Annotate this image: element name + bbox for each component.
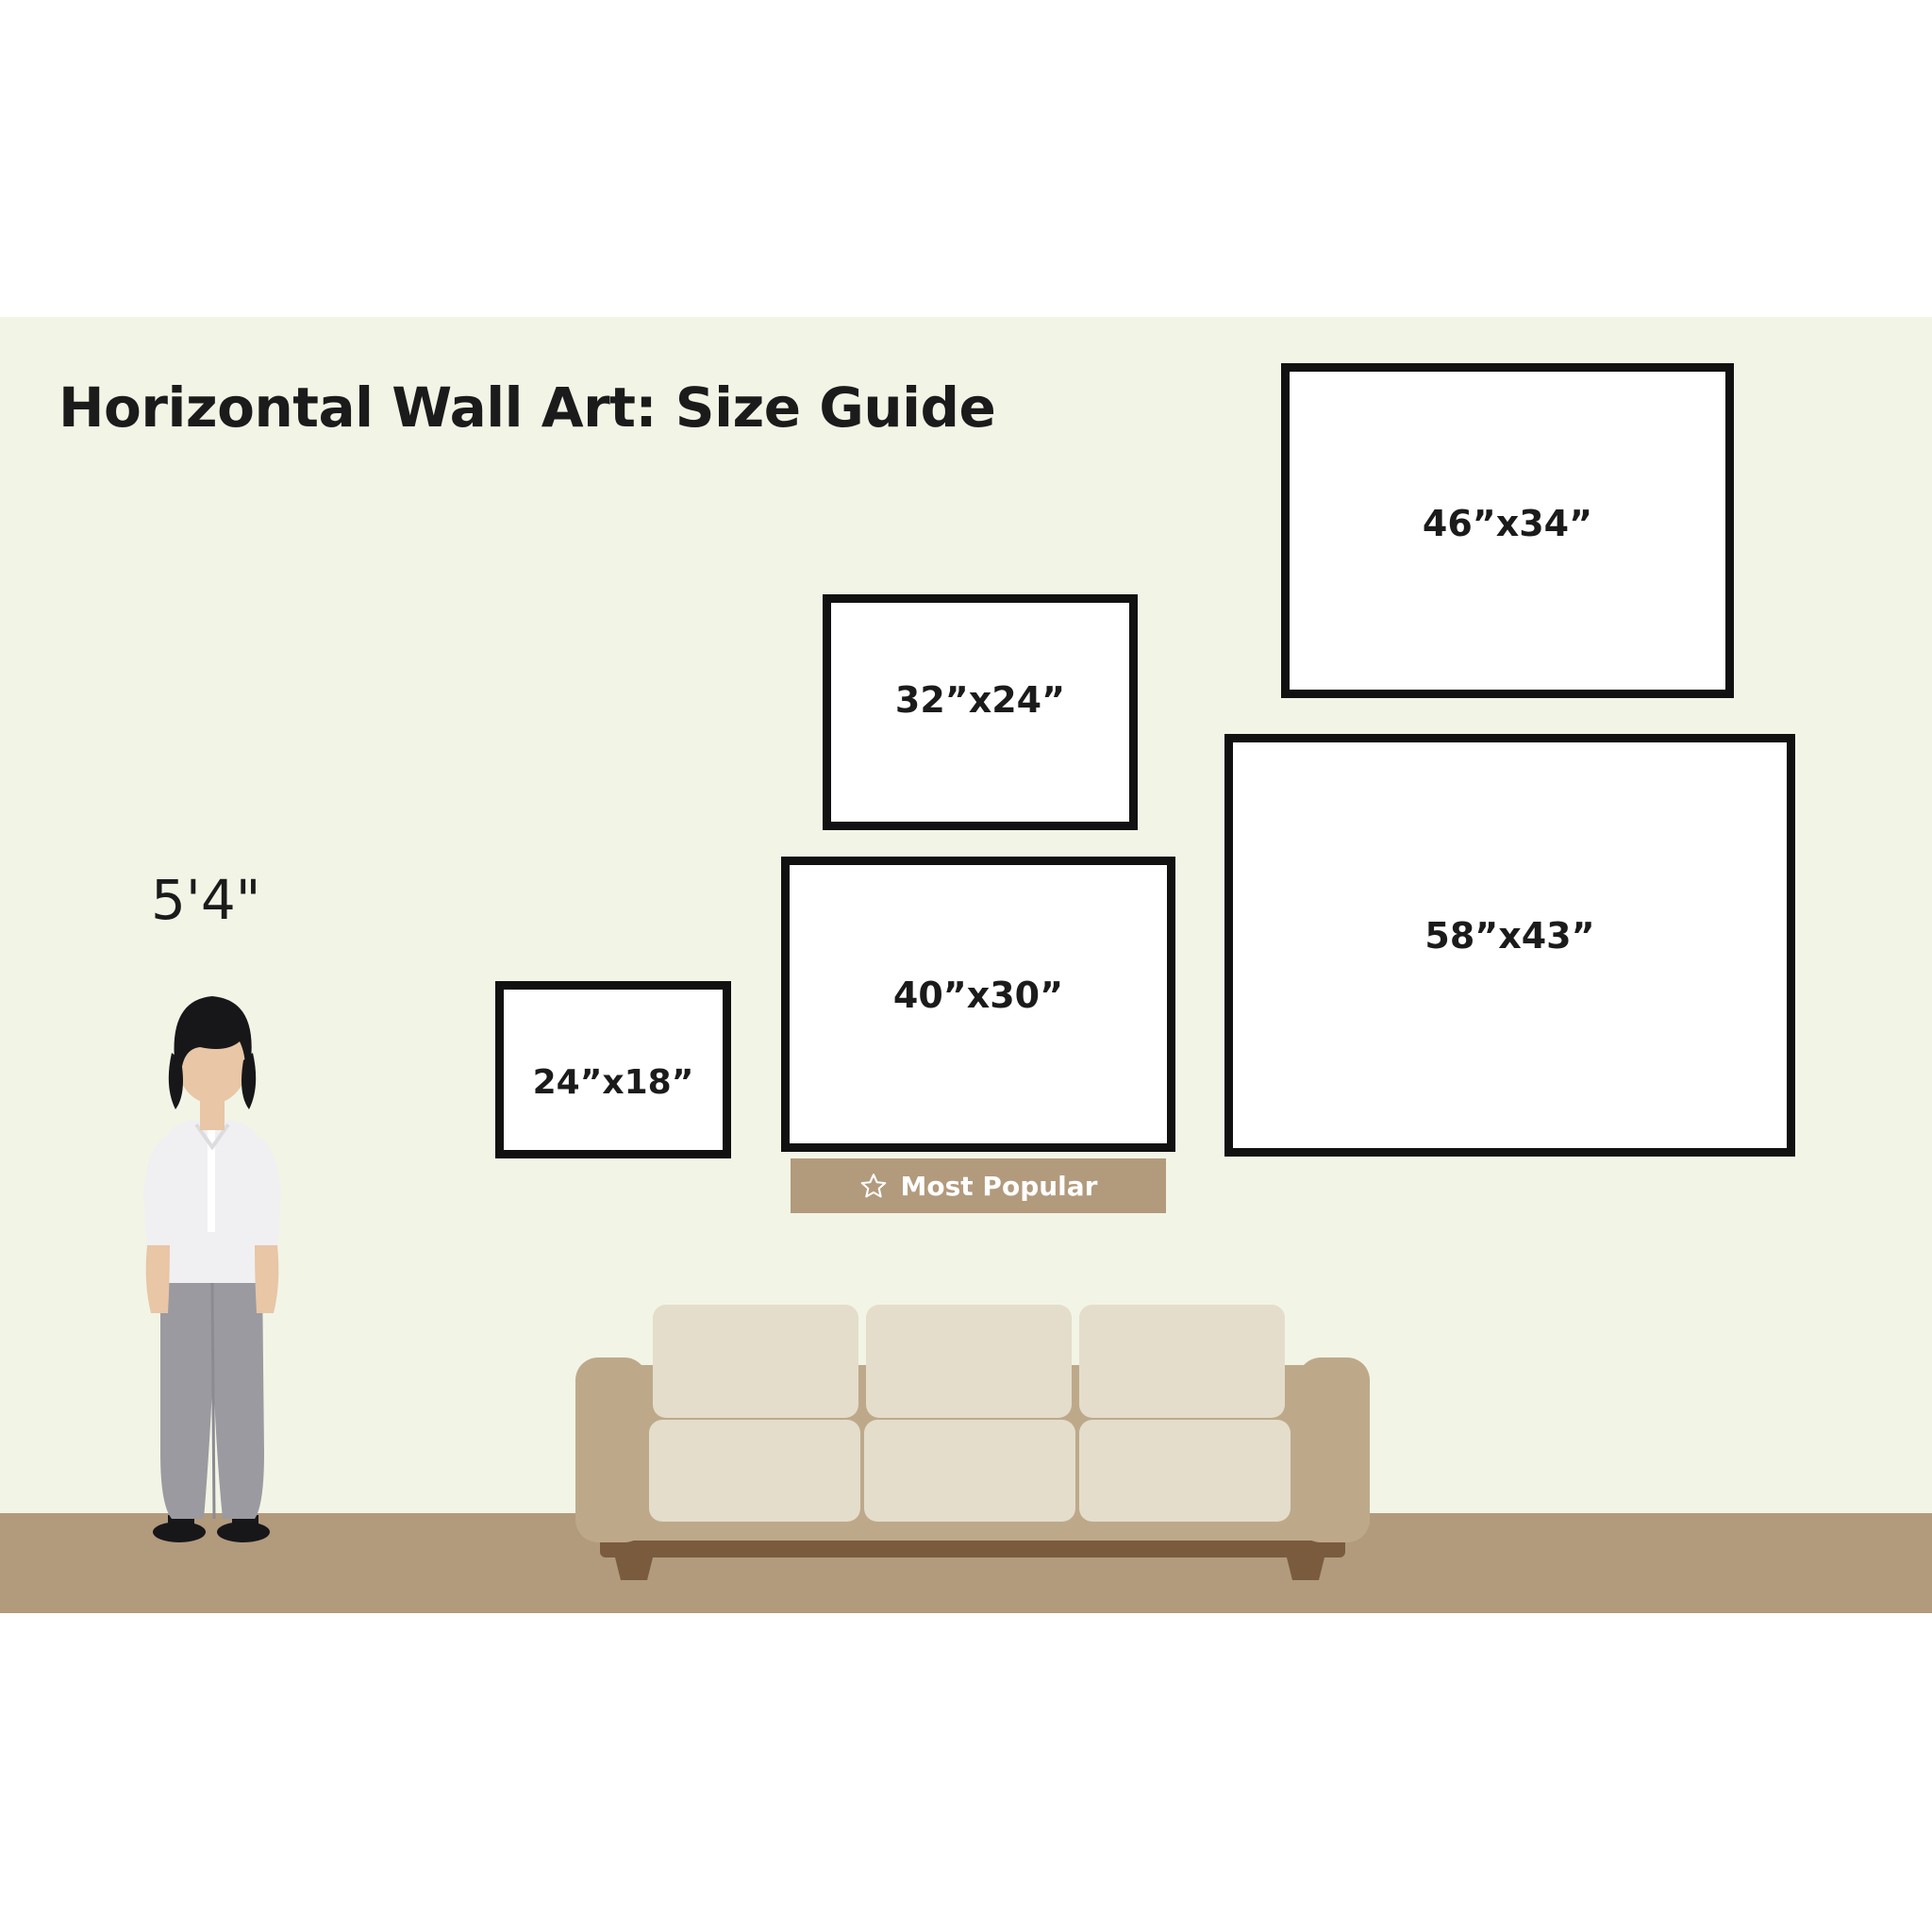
sofa-back-cushion-2 <box>866 1305 1072 1418</box>
frame-40x30[interactable]: 40”x30” <box>781 857 1175 1152</box>
frame-32x24[interactable]: 32”x24” <box>823 594 1138 830</box>
sofa-illustration <box>566 1278 1377 1590</box>
sofa-back-cushion-1 <box>653 1305 858 1418</box>
arm-right <box>255 1245 278 1313</box>
most-popular-label: Most Popular <box>901 1171 1098 1202</box>
most-popular-badge: Most Popular <box>791 1158 1166 1213</box>
frame-24x18[interactable]: 24”x18” <box>495 981 731 1158</box>
page-title: Horizontal Wall Art: Size Guide <box>58 375 995 440</box>
star-outline-icon <box>859 1172 888 1200</box>
person-height-label: 5'4" <box>151 868 260 932</box>
frame-46x34[interactable]: 46”x34” <box>1281 363 1734 698</box>
sofa-arm-right <box>1298 1357 1370 1542</box>
sofa-seat-cushion-3 <box>1079 1420 1291 1522</box>
sofa-back-cushion-3 <box>1079 1305 1285 1418</box>
sofa-seat-cushion-1 <box>649 1420 860 1522</box>
standing-person-figure <box>123 962 340 1547</box>
frame-58x43-label: 58”x43” <box>1424 915 1594 957</box>
sofa-seat-cushion-2 <box>864 1420 1075 1522</box>
size-guide-illustration: Horizontal Wall Art: Size Guide 5'4" <box>0 0 1932 1932</box>
frame-58x43[interactable]: 58”x43” <box>1224 734 1795 1157</box>
arm-left <box>146 1245 170 1313</box>
frame-32x24-label: 32”x24” <box>895 679 1065 721</box>
frame-40x30-label: 40”x30” <box>893 974 1063 1016</box>
frame-24x18-label: 24”x18” <box>533 1063 694 1102</box>
sofa-arm-left <box>575 1357 647 1542</box>
frame-46x34-label: 46”x34” <box>1423 503 1592 544</box>
